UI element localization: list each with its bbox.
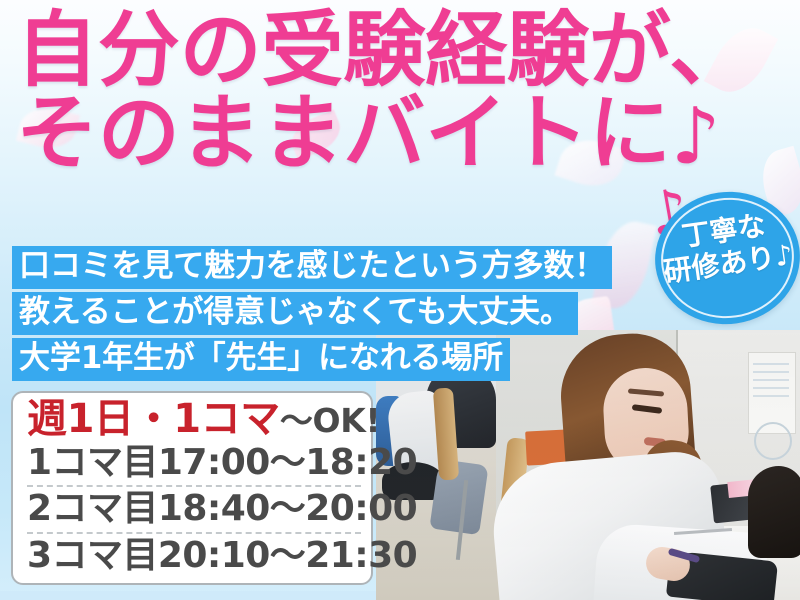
bullet-bars: 口コミを見て魅力を感じたという方多数！ 教えることが得意じゃなくても大丈夫。 大… xyxy=(12,246,612,384)
advertisement-banner: 自分の受験経験が、 そのままバイトに♪ ♪ 丁寧な 研修あり♪ 口コミを見て魅力… xyxy=(0,0,800,600)
bullet-bar-row: 大学1年生が「先生」になれる場所 xyxy=(12,338,612,381)
schedule-heading-ok: 〜OK! xyxy=(280,401,380,440)
bullet-bar-2: 教えることが得意じゃなくても大丈夫。 xyxy=(12,292,578,335)
schedule-card: 週1日・1コマ〜OK! 1コマ目17:00〜18:20 2コマ目18:40〜20… xyxy=(11,391,373,585)
schedule-heading: 週1日・1コマ〜OK! xyxy=(27,399,361,439)
music-note-icon: ♪ xyxy=(671,100,721,175)
headline: 自分の受験経験が、 そのままバイトに♪ xyxy=(16,12,736,175)
schedule-slot-3: 3コマ目20:10〜21:30 xyxy=(27,532,361,578)
bullet-bar-row: 口コミを見て魅力を感じたという方多数！ xyxy=(12,246,612,289)
schedule-heading-red: 週1日・1コマ xyxy=(27,396,280,442)
headline-line-2-text: そのままバイトに xyxy=(16,86,671,181)
headline-line-2: そのままバイトに♪ xyxy=(16,95,736,175)
bullet-bar-3: 大学1年生が「先生」になれる場所 xyxy=(12,338,510,381)
bullet-bar-1: 口コミを見て魅力を感じたという方多数！ xyxy=(12,246,612,289)
schedule-slot-2: 2コマ目18:40〜20:00 xyxy=(27,485,361,531)
bullet-bar-row: 教えることが得意じゃなくても大丈夫。 xyxy=(12,292,612,335)
headline-line-1: 自分の受験経験が、 xyxy=(16,12,736,91)
bottom-strip xyxy=(0,591,376,600)
schedule-slot-1: 1コマ目17:00〜18:20 xyxy=(27,441,361,485)
